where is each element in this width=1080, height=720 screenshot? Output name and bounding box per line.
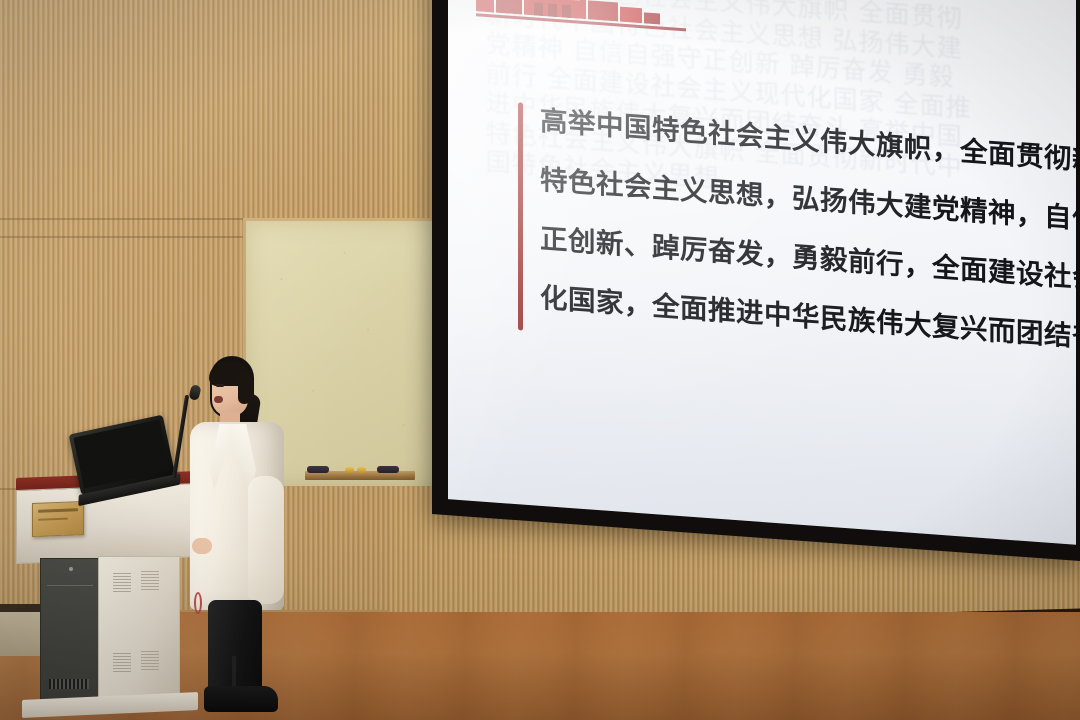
podium-equipment-panel: [40, 558, 100, 706]
auditorium-scene: 高举中国特色社会主义伟大旗帜 全面贯彻新时代中国特色社会主义思想 弘扬伟大建党精…: [0, 0, 1080, 720]
vent-grille: [141, 571, 159, 591]
mouth: [214, 396, 223, 403]
slide: 高举中国特色社会主义伟大旗帜 全面贯彻新时代中国特色社会主义思想 弘扬伟大建党精…: [448, 0, 1076, 545]
vent-grille: [141, 651, 159, 671]
slide-accent-bar: [518, 102, 523, 330]
eraser-icon: [377, 466, 399, 473]
hand: [192, 538, 212, 554]
projection-screen-surface[interactable]: 高举中国特色社会主义伟大旗帜 全面贯彻新时代中国特色社会主义思想 弘扬伟大建党精…: [448, 0, 1076, 545]
eye: [216, 384, 224, 387]
slide-body-text: 高举中国特色社会主义伟大旗帜，全面贯彻新时代中国 特色社会主义思想，弘扬伟大建党…: [540, 92, 1040, 364]
vent-grille: [49, 679, 89, 689]
marker-icon: [345, 467, 354, 473]
podium-nameplate: [32, 501, 84, 537]
slide-header: [476, 0, 660, 33]
hair-side: [238, 372, 253, 404]
vent-grille: [113, 573, 131, 593]
eraser-icon: [307, 466, 329, 473]
vent-grille: [113, 653, 131, 673]
lanyard-cord: [194, 592, 202, 614]
speaker-person: [186, 356, 296, 712]
boots: [204, 686, 278, 712]
blazer-sleeve: [248, 476, 284, 604]
nameplate-text-line: [38, 518, 68, 521]
wall-seam: [0, 236, 243, 238]
podium-side-panel: [98, 556, 180, 706]
projection-screen-bezel: 高举中国特色社会主义伟大旗帜 全面贯彻新时代中国特色社会主义思想 弘扬伟大建党精…: [432, 0, 1080, 561]
marker-icon: [357, 467, 366, 473]
panel-seam: [47, 585, 93, 586]
marker-tray: [305, 471, 415, 480]
nameplate-text-line: [38, 508, 78, 513]
indicator-dot-icon: [69, 567, 73, 571]
